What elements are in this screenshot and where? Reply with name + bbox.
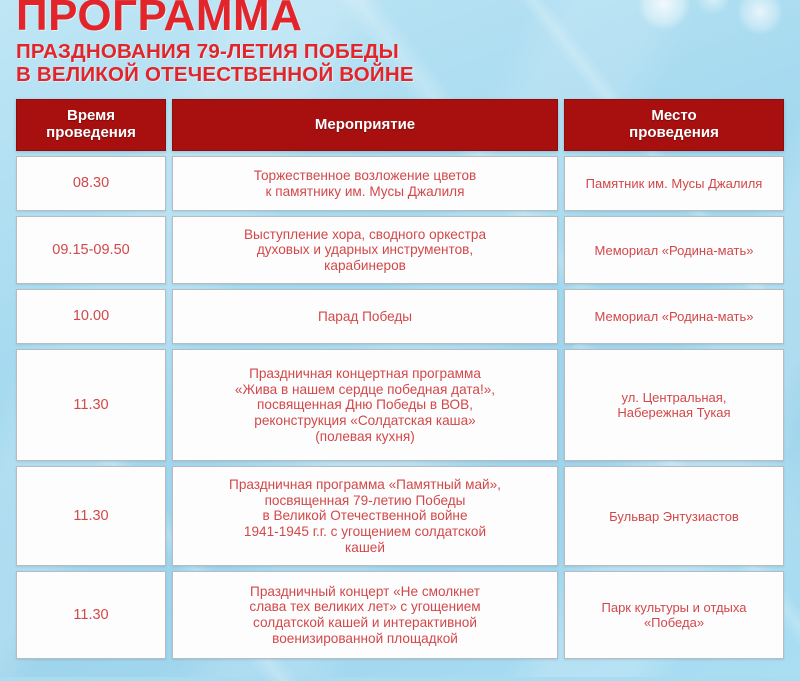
column-header-place: Место проведения bbox=[564, 99, 784, 151]
table-row: 11.30 Праздничная программа «Памятный ма… bbox=[16, 466, 784, 566]
table-row: 11.30 Праздничный концерт «Не смолкнет с… bbox=[16, 571, 784, 659]
page-subtitle-line-2: В ВЕЛИКОЙ ОТЕЧЕСТВЕННОЙ ВОЙНЕ bbox=[16, 64, 784, 87]
column-header-time: Время проведения bbox=[16, 99, 166, 151]
cell-place: ул. Центральная, Набережная Тукая bbox=[564, 349, 784, 461]
table-row: 08.30 Торжественное возложение цветов к … bbox=[16, 156, 784, 211]
cell-time: 11.30 bbox=[16, 349, 166, 461]
cell-place: Мемориал «Родина-мать» bbox=[564, 289, 784, 344]
table-row: 09.15-09.50 Выступление хора, сводного о… bbox=[16, 216, 784, 284]
title-block: ПРОГРАММА ПРАЗДНОВАНИЯ 79-ЛЕТИЯ ПОБЕДЫ В… bbox=[16, 0, 784, 87]
cell-time: 10.00 bbox=[16, 289, 166, 344]
program-table: Время проведения Мероприятие Место прове… bbox=[16, 99, 784, 659]
table-header-row: Время проведения Мероприятие Место прове… bbox=[16, 99, 784, 151]
cell-event: Выступление хора, сводного оркестра духо… bbox=[172, 216, 558, 284]
cell-place: Бульвар Энтузиастов bbox=[564, 466, 784, 566]
cell-event: Праздничная концертная программа «Жива в… bbox=[172, 349, 558, 461]
table-row: 10.00 Парад Победы Мемориал «Родина-мать… bbox=[16, 289, 784, 344]
cell-time: 09.15-09.50 bbox=[16, 216, 166, 284]
page-title: ПРОГРАММА bbox=[16, 0, 784, 36]
column-header-event: Мероприятие bbox=[172, 99, 558, 151]
cell-time: 11.30 bbox=[16, 571, 166, 659]
cell-place: Парк культуры и отдыха «Победа» bbox=[564, 571, 784, 659]
cell-event: Торжественное возложение цветов к памятн… bbox=[172, 156, 558, 211]
cell-place: Мемориал «Родина-мать» bbox=[564, 216, 784, 284]
table-row: 11.30 Праздничная концертная программа «… bbox=[16, 349, 784, 461]
page-subtitle-line-1: ПРАЗДНОВАНИЯ 79-ЛЕТИЯ ПОБЕДЫ bbox=[16, 41, 784, 64]
page-subtitle: ПРАЗДНОВАНИЯ 79-ЛЕТИЯ ПОБЕДЫ В ВЕЛИКОЙ О… bbox=[16, 41, 784, 87]
cell-time: 11.30 bbox=[16, 466, 166, 566]
cell-event: Праздничный концерт «Не смолкнет слава т… bbox=[172, 571, 558, 659]
cell-event: Парад Победы bbox=[172, 289, 558, 344]
poster-page: ПРОГРАММА ПРАЗДНОВАНИЯ 79-ЛЕТИЯ ПОБЕДЫ В… bbox=[0, 0, 800, 677]
cell-time: 08.30 bbox=[16, 156, 166, 211]
cell-place: Памятник им. Мусы Джалиля bbox=[564, 156, 784, 211]
cell-event: Праздничная программа «Памятный май», по… bbox=[172, 466, 558, 566]
